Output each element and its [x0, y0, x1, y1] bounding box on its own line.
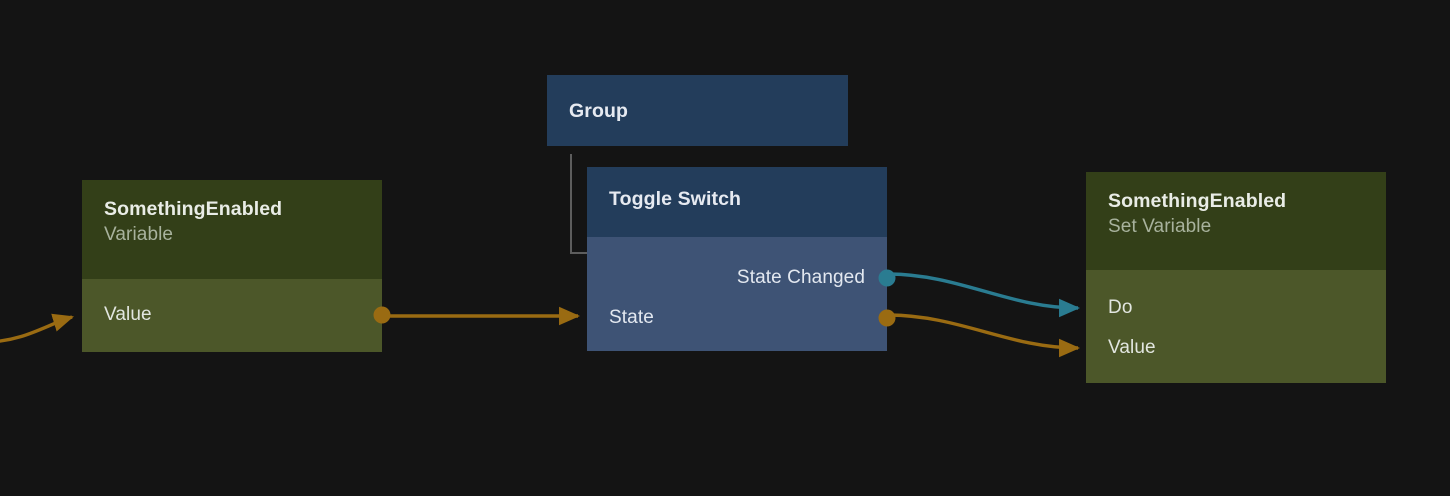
output-port-state-dot[interactable]	[879, 310, 896, 327]
group-bracket-icon	[570, 154, 587, 254]
wire-state-to-value	[887, 315, 1078, 348]
port-label-state-changed: State Changed	[737, 267, 865, 289]
port-row-do[interactable]: Do	[1086, 288, 1386, 328]
port-row-value[interactable]: Value	[82, 295, 382, 335]
node-body: State Changed State	[587, 237, 887, 351]
node-body: Value	[82, 279, 382, 352]
node-subtitle: Variable	[104, 222, 360, 247]
node-header: SomethingEnabled Variable	[82, 180, 382, 279]
node-title: SomethingEnabled	[104, 197, 360, 222]
node-graph-canvas[interactable]: Group SomethingEnabled Variable Value To…	[0, 0, 1450, 496]
wire-offscreen-to-value	[0, 317, 72, 342]
group-node[interactable]: Group	[547, 75, 848, 146]
output-port-state-changed-dot[interactable]	[879, 270, 896, 287]
port-label-value: Value	[104, 304, 152, 326]
group-title: Group	[569, 99, 628, 123]
port-row-value[interactable]: Value	[1086, 328, 1386, 368]
port-row-state[interactable]: State	[587, 298, 887, 338]
port-label-do: Do	[1108, 297, 1133, 319]
node-header: Toggle Switch	[587, 167, 887, 237]
output-port-value-dot[interactable]	[374, 307, 391, 324]
port-row-state-changed[interactable]: State Changed	[587, 258, 887, 298]
port-label-value: Value	[1108, 337, 1156, 359]
node-title: Toggle Switch	[609, 187, 865, 212]
node-title: SomethingEnabled	[1108, 189, 1364, 214]
node-subtitle: Set Variable	[1108, 214, 1364, 239]
node-toggle-switch[interactable]: Toggle Switch State Changed State	[587, 167, 887, 351]
node-variable-set[interactable]: SomethingEnabled Set Variable Do Value	[1086, 172, 1386, 383]
node-variable-get[interactable]: SomethingEnabled Variable Value	[82, 180, 382, 352]
node-header: SomethingEnabled Set Variable	[1086, 172, 1386, 270]
port-label-state: State	[609, 307, 654, 329]
wire-statechanged-to-do	[887, 274, 1078, 308]
node-body: Do Value	[1086, 270, 1386, 383]
